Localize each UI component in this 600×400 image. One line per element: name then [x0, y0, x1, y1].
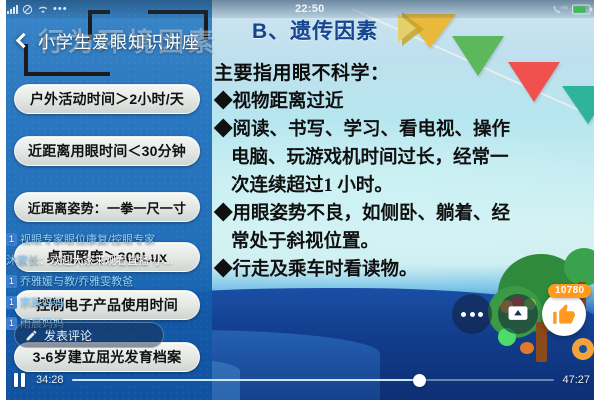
live-player: B、遗传因素 主要指用眼不科学： ◆视物距离过近 ◆阅读、书写、学习、看电视、操…: [0, 0, 600, 400]
decor-dot: [520, 342, 534, 354]
chat-nickname: 乔雅媛与教/乔雅雯教爸: [20, 276, 133, 288]
comment-input[interactable]: 发表评论: [14, 322, 164, 348]
signal-bars-icon: [7, 5, 18, 14]
current-time-label: 34:28: [36, 374, 64, 386]
playback-bar: 34:28 47:27: [0, 360, 600, 400]
slide-body: 主要指用眼不科学： ◆视物距离过近 ◆阅读、书写、学习、看电视、操作 电脑、玩游…: [214, 58, 586, 287]
slide-bullet: ◆行走及乘车时看读物。: [214, 259, 586, 282]
cast-button[interactable]: [498, 294, 538, 334]
nav-bar: 小学生爱眼知识讲座: [0, 18, 600, 62]
pencil-icon: [25, 329, 38, 342]
more-dots-icon: •••: [53, 3, 68, 15]
volte-hd-icon: HD: [552, 4, 568, 15]
eye-care-card-label: 近距离用眼时间＜30分钟: [28, 141, 186, 161]
cast-screen-icon: [507, 305, 529, 323]
status-bar-right: HD: [552, 4, 593, 15]
total-time-label: 47:27: [562, 374, 590, 386]
eye-care-card: 户外活动时间＞2小时/天: [14, 84, 200, 114]
seek-handle[interactable]: [413, 374, 426, 387]
status-bar-left: •••: [7, 3, 68, 15]
back-button[interactable]: [6, 23, 36, 57]
chat-nickname: 视眼专家眼位康复/控眼专家: [20, 234, 155, 246]
slide-bullet-cont: 常处于斜视位置。: [214, 231, 586, 254]
seek-progress: [72, 379, 420, 382]
chat-nickname: 沐家长: [6, 255, 39, 267]
battery-icon: [572, 4, 593, 15]
slide-bullet-cont: 次连续超过1 小时。: [214, 175, 586, 198]
chat-nickname: 宗政妈妈: [20, 297, 64, 309]
wifi-icon: [37, 4, 49, 15]
tree-trunk: [536, 322, 547, 362]
like-count-badge: 10780: [548, 284, 591, 298]
chat-message: 1乔雅媛与教/乔雅雯教爸: [6, 275, 212, 291]
eye-care-card: 近距离用眼时间＜30分钟: [14, 136, 200, 166]
no-sim-icon: [22, 4, 33, 15]
right-gutter: [594, 0, 600, 400]
left-gutter: [0, 0, 6, 400]
slide-bullet: ◆用眼姿势不良，如侧卧、躺着、经: [214, 203, 586, 226]
comment-placeholder: 发表评论: [44, 327, 92, 344]
chevron-left-icon: [15, 32, 31, 48]
chat-level-badge: 1: [6, 296, 17, 309]
status-bar-clock: 22:50: [295, 3, 325, 15]
more-dots-icon: [461, 312, 483, 317]
pause-button[interactable]: [10, 371, 28, 389]
flower-center-icon: [579, 345, 587, 353]
chat-text: ：欢迎大家来观看直播“小...: [39, 255, 173, 267]
more-options-button[interactable]: [452, 294, 492, 334]
slide-bullet: ◆阅读、书写、学习、看电视、操作: [214, 119, 586, 142]
chat-message: 1视眼专家眼位康复/控眼专家: [6, 233, 212, 249]
eye-care-card-label: 近距离姿势：一拳一尺一寸: [28, 198, 186, 217]
slide-bullet: ◆视物距离过近: [214, 91, 586, 114]
like-button[interactable]: [542, 292, 586, 336]
chat-message: 1宗政妈妈: [6, 296, 212, 312]
slide-bullet-cont: 电脑、玩游戏机时间过长，经常一: [214, 147, 586, 170]
chat-level-badge: 1: [6, 275, 17, 288]
chat-message: 沐家长：欢迎大家来观看直播“小...: [6, 254, 212, 270]
page-title: 小学生爱眼知识讲座: [38, 28, 200, 53]
thumbs-up-icon: [551, 301, 577, 327]
status-bar: ••• 22:50 HD: [0, 0, 600, 18]
slide-heading: 主要指用眼不科学：: [214, 58, 586, 85]
eye-care-card: 近距离姿势：一拳一尺一寸: [14, 192, 200, 222]
svg-text:HD: HD: [561, 4, 568, 10]
seek-bar[interactable]: [72, 372, 555, 388]
eye-care-card-label: 户外活动时间＞2小时/天: [30, 89, 184, 109]
chat-level-badge: 1: [6, 233, 17, 246]
